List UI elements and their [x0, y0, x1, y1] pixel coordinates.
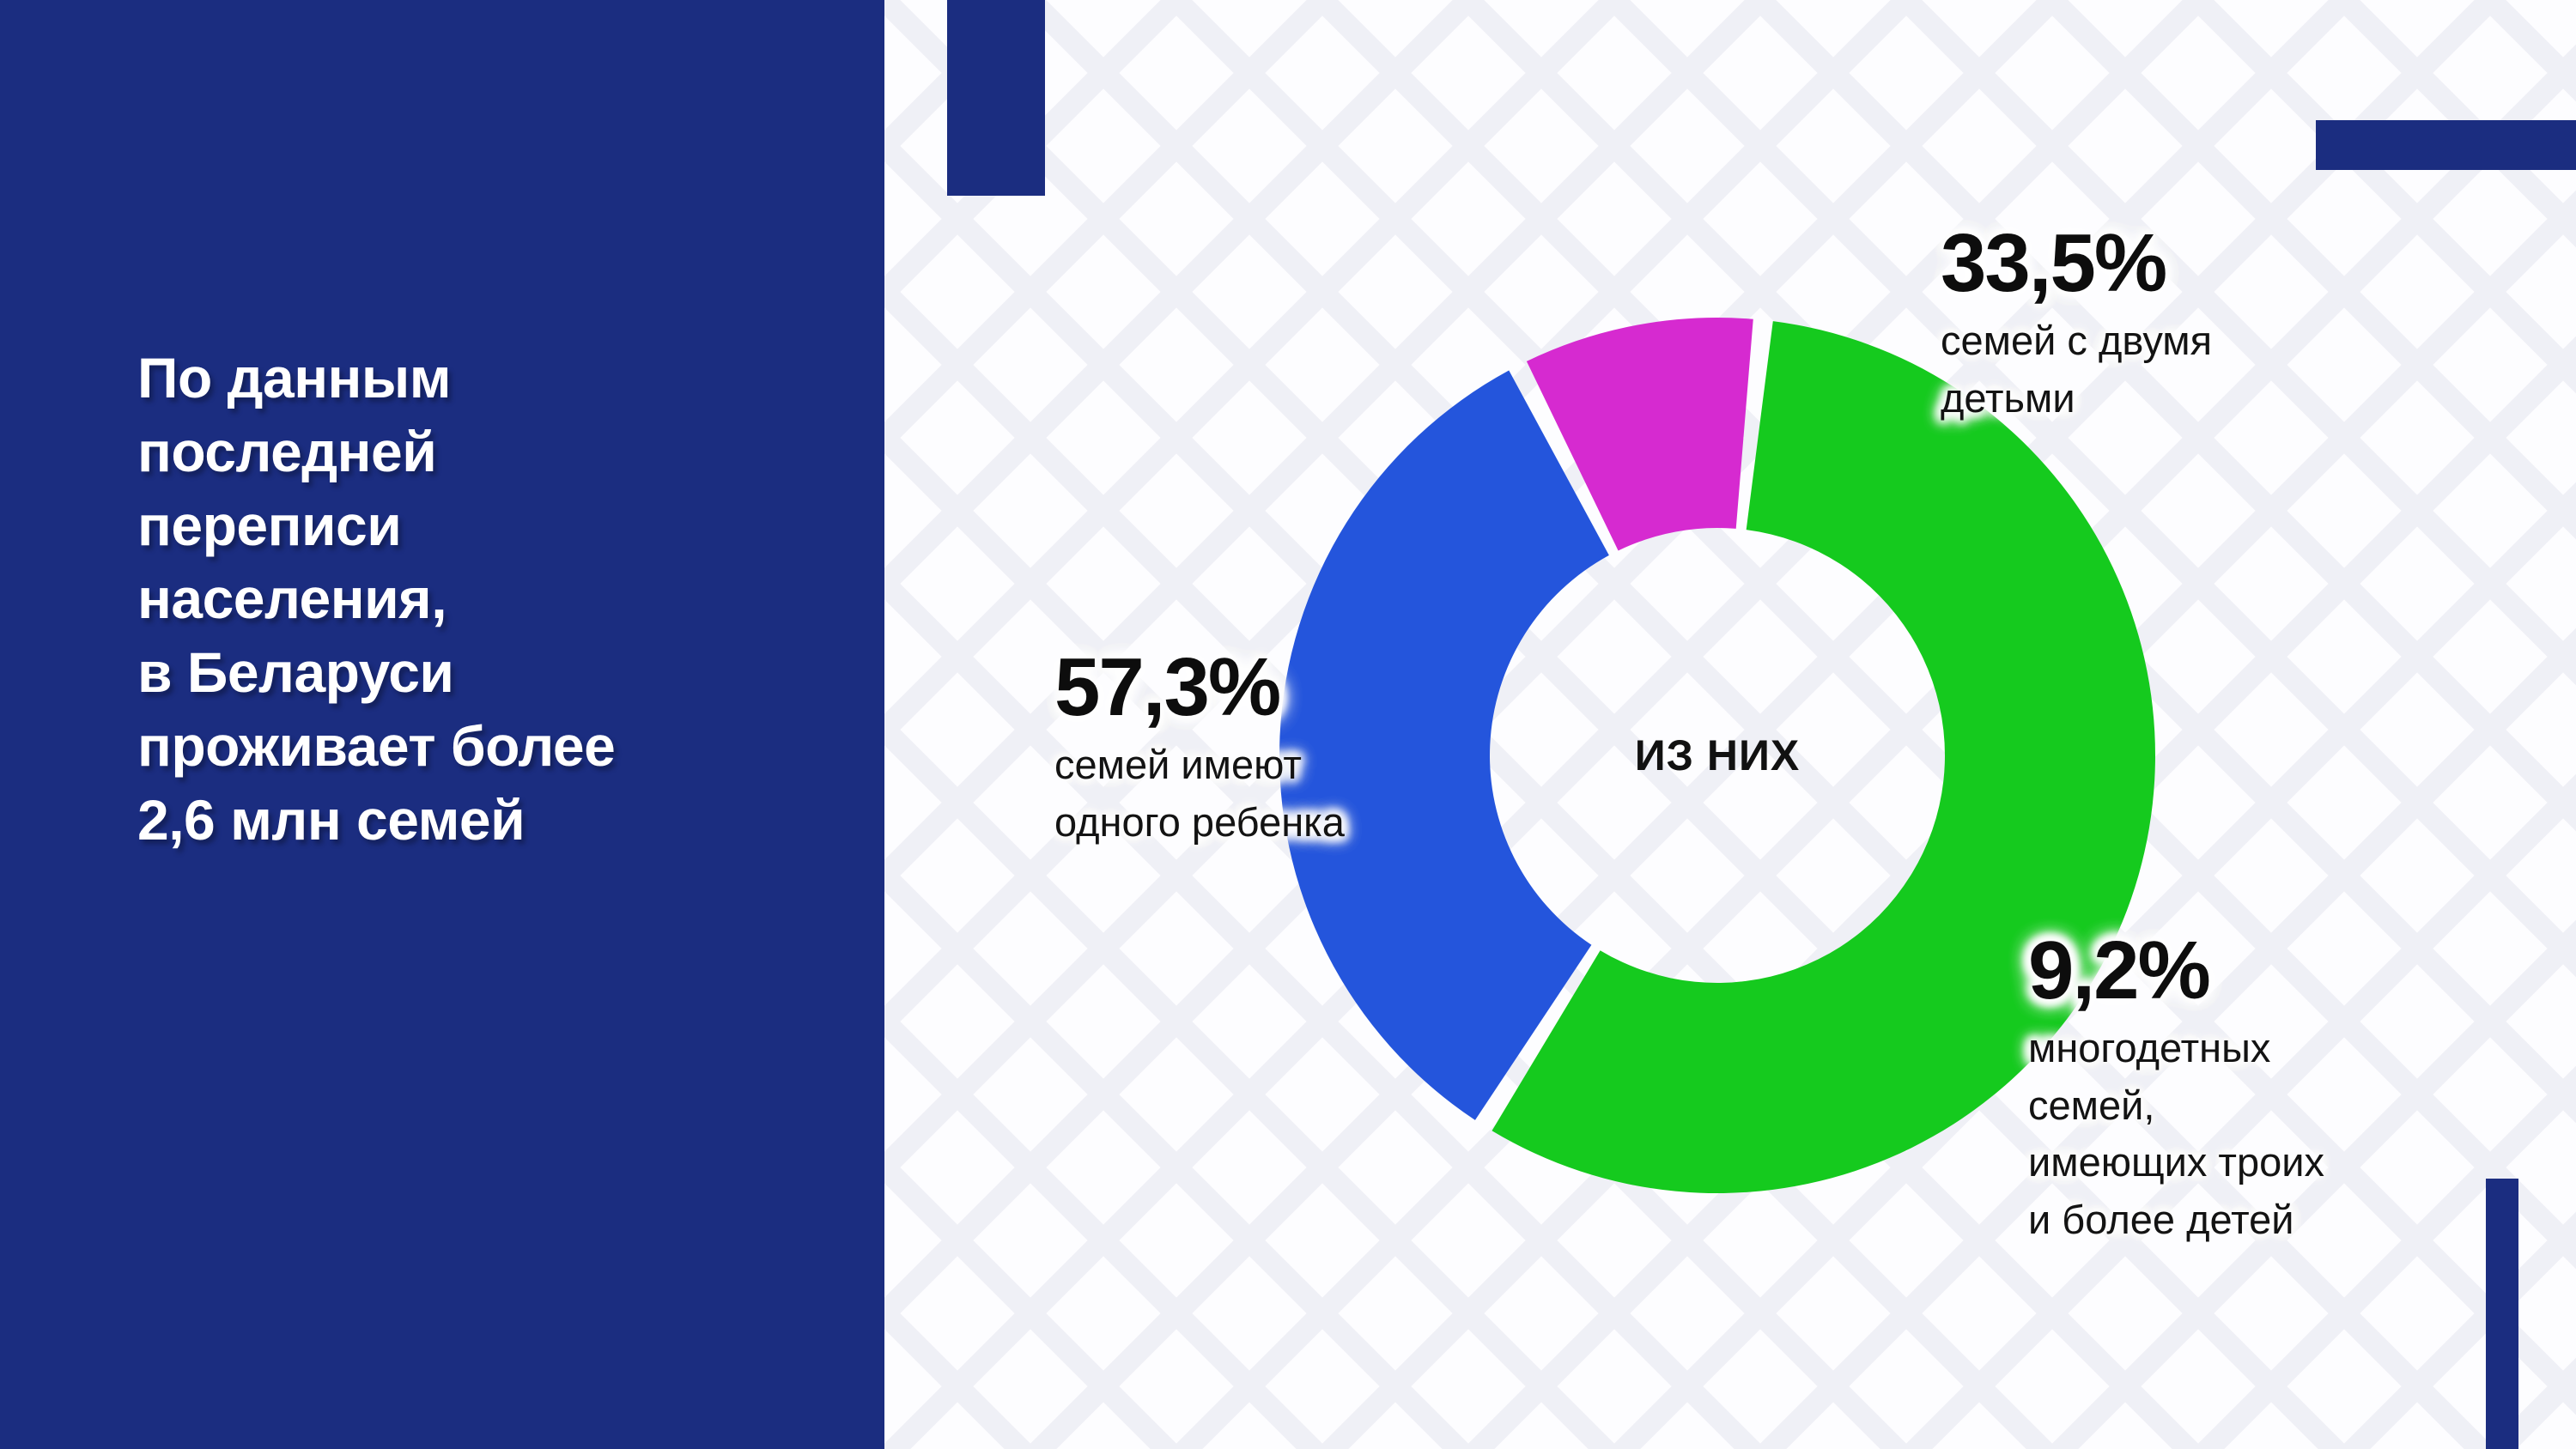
callout-two-children-description: семей с двумя детьми: [1941, 312, 2421, 427]
decorative-bar-top-right: [2316, 120, 2576, 170]
callout-one-child: 57,3% семей имеют одного ребенка: [1054, 646, 1501, 851]
decorative-bar-top-left: [947, 0, 1045, 196]
callout-many-children-description: многодетных семей, имеющих троих и более…: [2028, 1020, 2509, 1249]
infographic-canvas: По данным последней переписи населения, …: [0, 0, 2576, 1449]
page-title: По данным последней переписи населения, …: [137, 342, 850, 858]
callout-many-children-value: 9,2%: [2028, 929, 2509, 1013]
callout-one-child-description: семей имеют одного ребенка: [1054, 737, 1501, 851]
callout-two-children-value: 33,5%: [1941, 221, 2421, 306]
callout-one-child-value: 57,3%: [1054, 646, 1501, 730]
callout-two-children: 33,5% семей с двумя детьми: [1941, 221, 2421, 427]
callout-many-children: 9,2% многодетных семей, имеющих троих и …: [2028, 929, 2509, 1249]
left-navy-panel: По данным последней переписи населения, …: [0, 0, 884, 1449]
